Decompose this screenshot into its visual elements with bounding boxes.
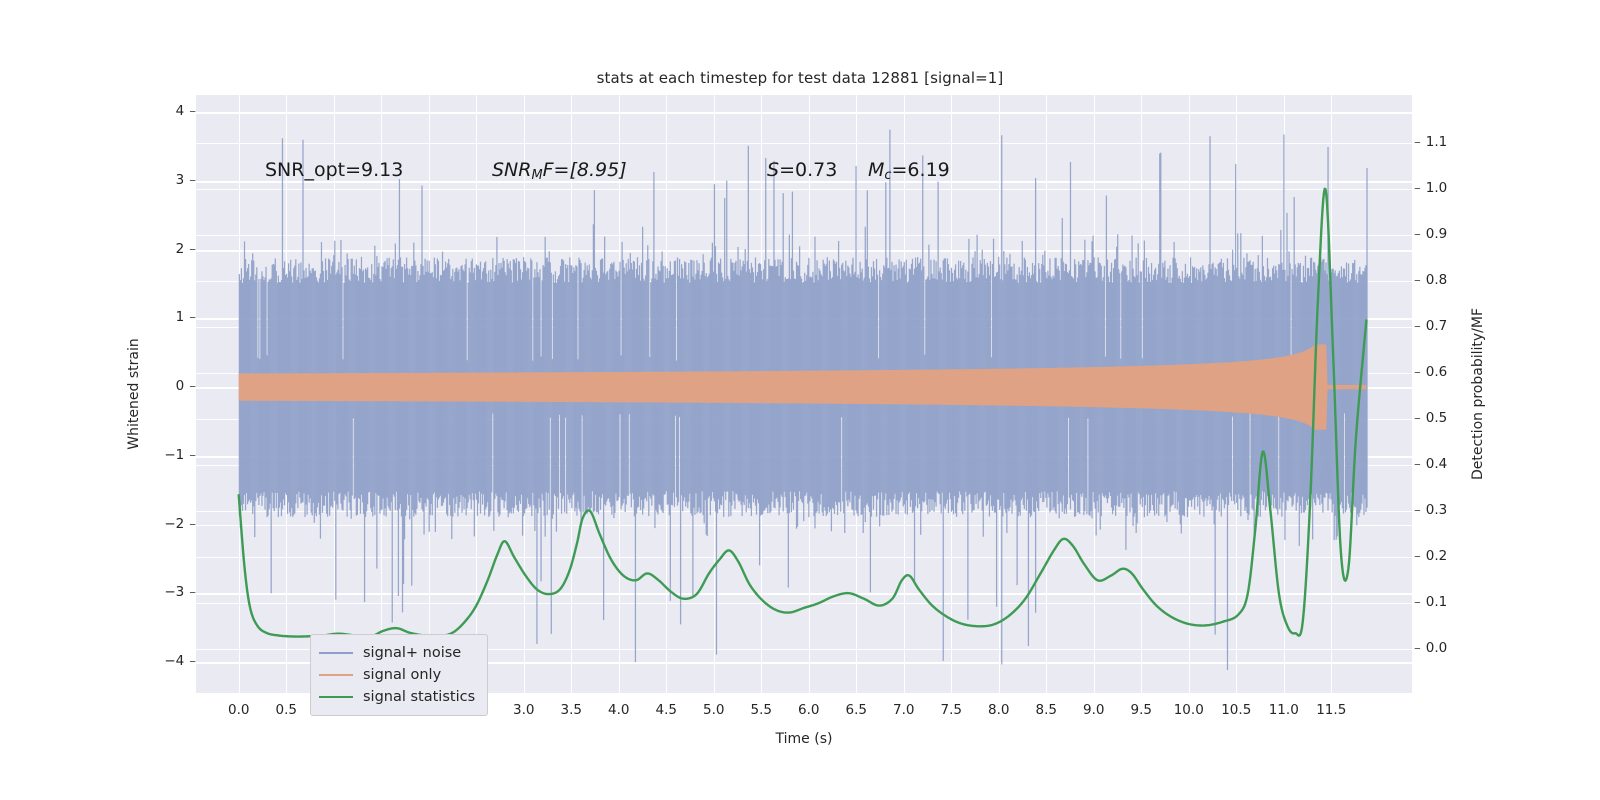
legend-item-0[interactable]: signal+ noise bbox=[319, 642, 475, 664]
annotation-s-prefix: S bbox=[767, 159, 779, 181]
plot-area bbox=[196, 95, 1412, 693]
y-tick-6: −2– bbox=[164, 516, 196, 532]
annotation-chirp-mass: Mc=6.19 bbox=[868, 159, 950, 183]
x-tick-11: 5.5 bbox=[751, 702, 772, 718]
legend-swatch-icon bbox=[319, 674, 353, 676]
annotation-snr-mf-prefix: SNR bbox=[492, 159, 531, 181]
y2-tick-9: –0.2 bbox=[1414, 548, 1447, 564]
y-axis-label: Whitened strain bbox=[126, 338, 142, 449]
x-tick-18: 9.0 bbox=[1083, 702, 1104, 718]
x-tick-10: 5.0 bbox=[703, 702, 724, 718]
legend-item-1[interactable]: signal only bbox=[319, 664, 475, 686]
x-tick-14: 7.0 bbox=[893, 702, 914, 718]
annotation-snr-mf: SNRMF=[8.95] bbox=[492, 159, 627, 183]
annotation-snr-mf-subscript: M bbox=[531, 168, 542, 183]
x-tick-0: 0.0 bbox=[228, 702, 249, 718]
x-tick-16: 8.0 bbox=[988, 702, 1009, 718]
x-tick-12: 6.0 bbox=[798, 702, 819, 718]
x-tick-7: 3.5 bbox=[561, 702, 582, 718]
y2-tick-11: –0.0 bbox=[1414, 640, 1447, 656]
x-tick-19: 9.5 bbox=[1131, 702, 1152, 718]
x-tick-17: 8.5 bbox=[1036, 702, 1057, 718]
y2-tick-8: –0.3 bbox=[1414, 502, 1447, 518]
y-tick-4: 0– bbox=[176, 378, 196, 394]
annotation-snr-opt: SNR_opt=9.13 bbox=[265, 159, 403, 181]
data-layer bbox=[196, 95, 1412, 693]
legend-label: signal+ noise bbox=[363, 645, 461, 661]
x-tick-1: 0.5 bbox=[276, 702, 297, 718]
y2-tick-10: –0.1 bbox=[1414, 594, 1447, 610]
x-tick-9: 4.5 bbox=[656, 702, 677, 718]
legend-swatch-icon bbox=[319, 652, 353, 654]
x-tick-21: 10.5 bbox=[1221, 702, 1251, 718]
y2-tick-5: –0.6 bbox=[1414, 364, 1447, 380]
x-tick-20: 10.0 bbox=[1174, 702, 1204, 718]
y2-tick-3: –0.8 bbox=[1414, 272, 1447, 288]
y2-tick-0: –1.1 bbox=[1414, 134, 1447, 150]
y2-tick-7: –0.4 bbox=[1414, 456, 1447, 472]
x-tick-15: 7.5 bbox=[941, 702, 962, 718]
legend-item-2[interactable]: signal statistics bbox=[319, 686, 475, 708]
annotation-s-rest: =0.73 bbox=[779, 159, 837, 181]
annotation-s-statistic: S=0.73 bbox=[767, 159, 837, 181]
y2-tick-6: –0.5 bbox=[1414, 410, 1447, 426]
x-tick-13: 6.5 bbox=[846, 702, 867, 718]
y-tick-3: 1– bbox=[176, 309, 196, 325]
y-tick-1: 3– bbox=[176, 172, 196, 188]
x-tick-6: 3.0 bbox=[513, 702, 534, 718]
y-tick-0: 4– bbox=[176, 103, 196, 119]
y-tick-2: 2– bbox=[176, 241, 196, 257]
y2-tick-1: –1.0 bbox=[1414, 180, 1447, 196]
annotation-mc-subscript: c bbox=[884, 168, 891, 183]
x-tick-22: 11.0 bbox=[1269, 702, 1299, 718]
y-tick-8: −4– bbox=[164, 653, 196, 669]
annotation-snr-mf-rest: F=[8.95] bbox=[543, 159, 627, 181]
y2-tick-4: –0.7 bbox=[1414, 318, 1447, 334]
annotation-mc-prefix: M bbox=[868, 159, 884, 181]
annotation-mc-rest: =6.19 bbox=[892, 159, 950, 181]
legend-swatch-icon bbox=[319, 696, 353, 698]
chart-title: stats at each timestep for test data 128… bbox=[0, 69, 1600, 87]
x-tick-8: 4.0 bbox=[608, 702, 629, 718]
y-tick-7: −3– bbox=[164, 584, 196, 600]
y2-tick-2: –0.9 bbox=[1414, 226, 1447, 242]
y2-axis-label: Detection probability/MF bbox=[1470, 308, 1486, 480]
legend-label: signal only bbox=[363, 667, 441, 683]
x-tick-23: 11.5 bbox=[1316, 702, 1346, 718]
chart-legend[interactable]: signal+ noisesignal onlysignal statistic… bbox=[310, 634, 488, 716]
x-axis-label: Time (s) bbox=[776, 731, 833, 747]
y-tick-5: −1– bbox=[164, 447, 196, 463]
legend-label: signal statistics bbox=[363, 689, 475, 705]
